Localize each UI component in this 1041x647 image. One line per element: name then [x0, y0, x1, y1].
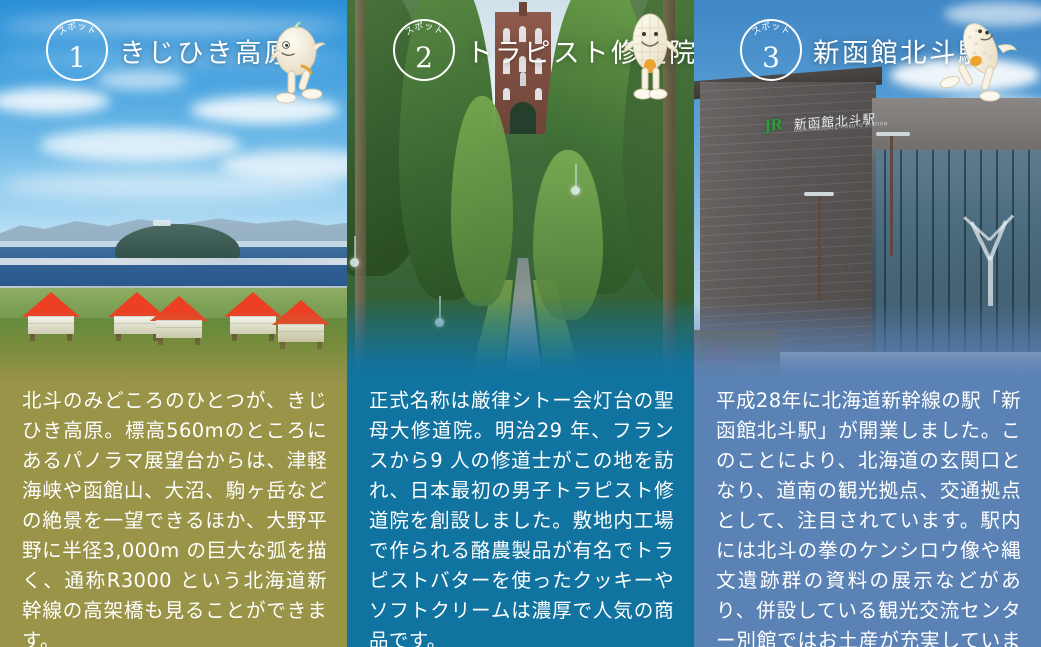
- svg-text:スポット: スポット: [403, 20, 444, 38]
- spot-badge-2: スポット 2: [393, 19, 455, 81]
- hakodate-town-strip: [0, 258, 347, 265]
- tree-shaped-column-icon: [944, 196, 1034, 306]
- street-lamp-icon: [350, 258, 359, 267]
- lamp-post: [818, 196, 821, 300]
- spot-body-text: 北斗のみどころのひとつが、きじひき高原。標高560mのところにあるパノラマ展望台…: [0, 386, 347, 647]
- spot-card-1: スポット 1 きじひき高原: [0, 0, 347, 647]
- cloud-band: [0, 172, 347, 198]
- badge-arc-label: スポット: [395, 27, 453, 53]
- body-paragraph: 北斗のみどころのひとつが、きじひき高原。標高560mのところにあるパノラマ展望台…: [22, 386, 327, 647]
- street-lamp-icon: [571, 186, 580, 195]
- svg-text:スポット: スポット: [56, 20, 97, 38]
- onion-mascot-running-icon: [258, 20, 336, 112]
- svg-text:スポット: スポット: [750, 20, 791, 38]
- spot-body-text: 正式名称は厳律シトー会灯台の聖母大修道院。明治29 年、フランスから9 人の修道…: [347, 386, 694, 647]
- spot-card-3: JR 新函館北斗駅 SHIN-HAKODATE-HOKUTO STATION ス…: [694, 0, 1041, 647]
- badge-label: スポット: [750, 20, 791, 38]
- badge-label: スポット: [56, 20, 97, 38]
- lamp-head: [876, 132, 910, 136]
- potato-mascot-jumping-icon: [936, 12, 1032, 108]
- corn-mascot-standing-icon: [615, 8, 685, 104]
- body-paragraph: 正式名称は厳律シトー会灯台の聖母大修道院。明治29 年、フランスから9 人の修道…: [369, 386, 674, 647]
- cloud: [40, 128, 240, 162]
- badge-arc-label: スポット: [48, 27, 106, 53]
- lamp-post: [890, 136, 893, 256]
- spot-badge-1: スポット 1: [46, 19, 108, 81]
- spot-body-text: 平成28年に北海道新幹線の駅「新函館北斗駅」が開業しました。このことにより、北海…: [694, 386, 1041, 647]
- spot-card-2: スポット 2 トラピスト修道院: [347, 0, 694, 647]
- badge-label: スポット: [403, 20, 444, 38]
- spot-cards-board: スポット 1 きじひき高原: [0, 0, 1041, 647]
- lamp-head: [804, 192, 834, 196]
- jr-logo: JR: [756, 116, 790, 135]
- badge-arc-label: スポット: [742, 27, 800, 53]
- body-paragraph: 平成28年に北海道新幹線の駅「新函館北斗駅」が開業しました。このことにより、北海…: [716, 386, 1021, 647]
- spot-badge-3: スポット 3: [740, 19, 802, 81]
